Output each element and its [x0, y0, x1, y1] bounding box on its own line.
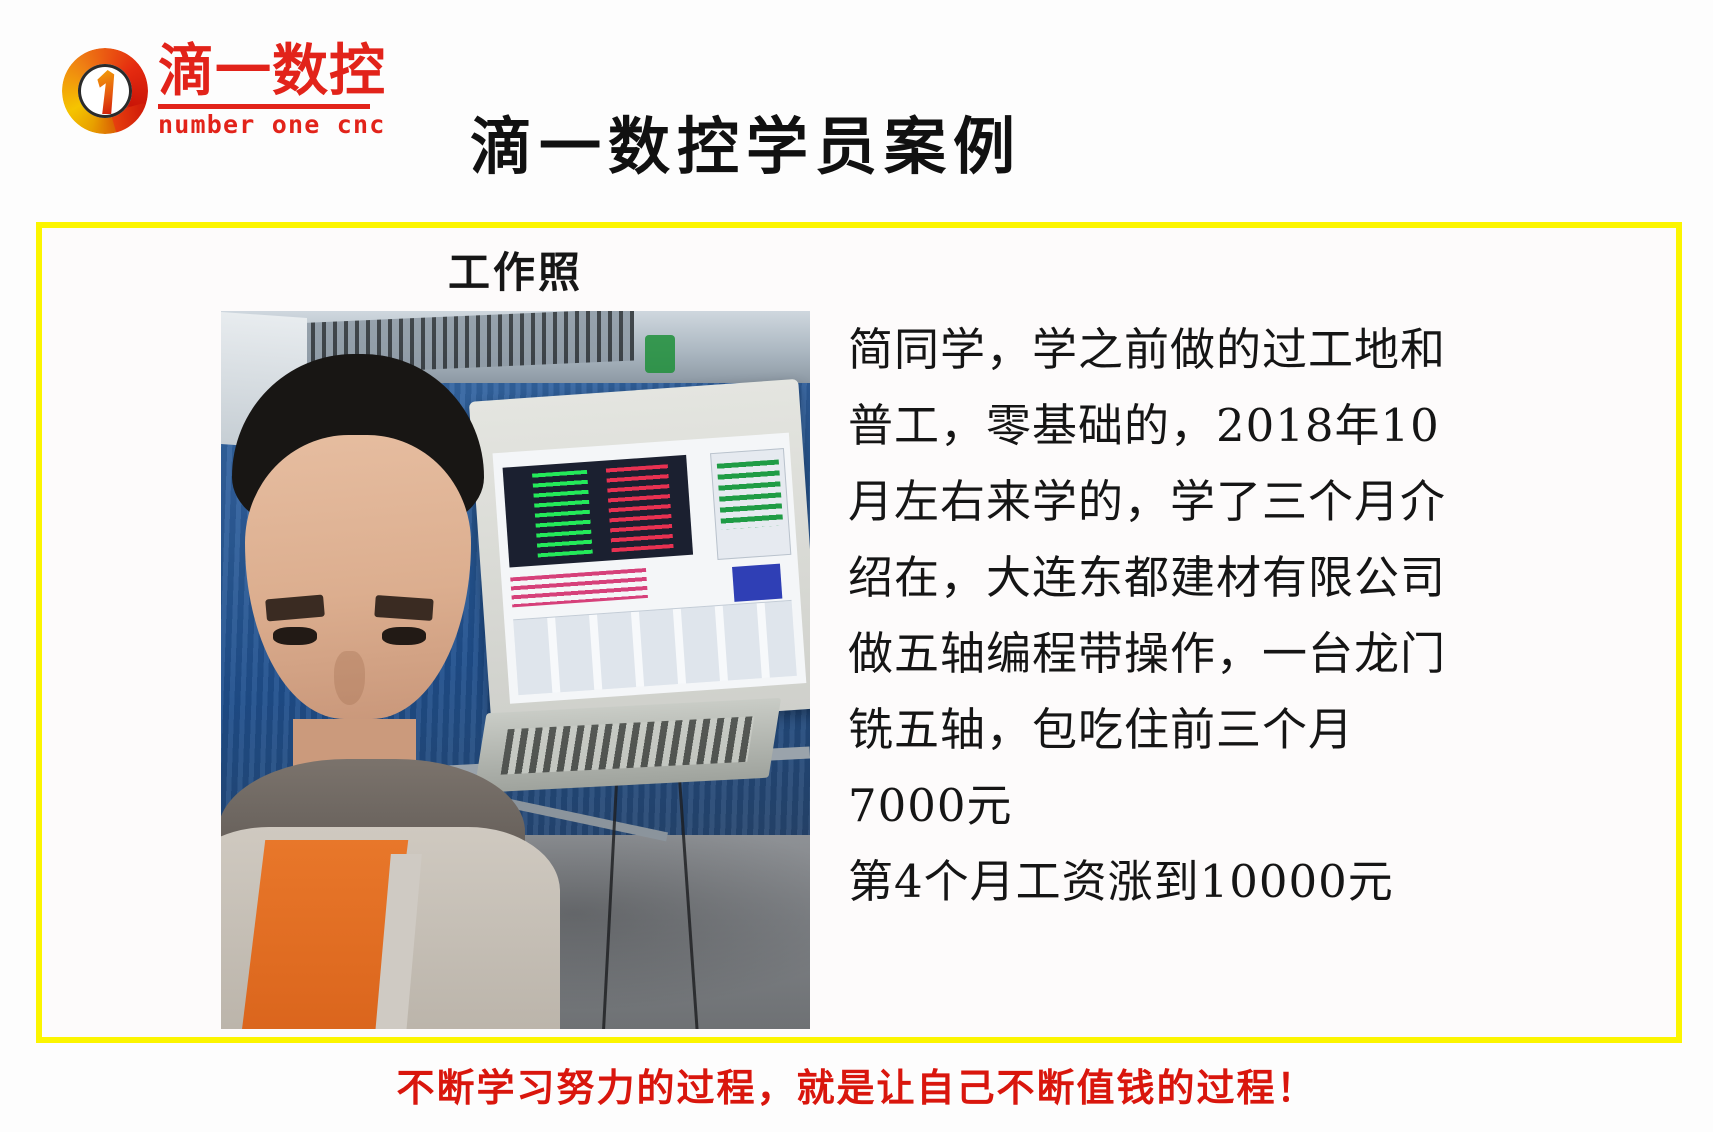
- story-line: 铣五轴，包吃住前三个月: [848, 692, 1668, 768]
- photo-person: [221, 354, 539, 1029]
- number-one-swoosh-logo-icon: [62, 48, 148, 134]
- story-line: 简同学，学之前做的过工地和: [848, 312, 1668, 388]
- story-line: 做五轴编程带操作，一台龙门: [848, 616, 1668, 692]
- cnc-screen: [492, 432, 806, 703]
- logo-divider: [158, 104, 370, 109]
- cnc-status-panel: [711, 448, 792, 560]
- photo-person-eye-right: [382, 627, 426, 645]
- story-line: 绍在，大连东都建材有限公司: [848, 540, 1668, 616]
- logo-chinese-name: 滴一数控: [158, 42, 386, 102]
- brand-logo: 滴一数控 number one cnc: [62, 40, 372, 140]
- student-work-photo: [221, 311, 810, 1029]
- story-line: 第4个月工资涨到10000元: [848, 844, 1668, 920]
- student-story: 简同学，学之前做的过工地和 普工，零基础的，2018年10 月左右来学的，学了三…: [848, 312, 1668, 920]
- photo-person-brow-right: [374, 595, 433, 621]
- cnc-highlight-block: [733, 564, 783, 602]
- photo-person-nose: [334, 651, 365, 705]
- story-line: 普工，零基础的，2018年10: [848, 388, 1668, 464]
- photo-person-eye-left: [273, 627, 317, 645]
- photo-caption: 工作照: [448, 247, 583, 299]
- cnc-button-grid: [513, 600, 797, 696]
- story-line: 7000元: [848, 768, 1668, 844]
- page-title: 滴一数控学员案例: [470, 112, 1022, 182]
- footer-slogan: 不断学习努力的过程，就是让自己不断值钱的过程！: [0, 1062, 1713, 1114]
- logo-english-name: number one cnc: [158, 110, 386, 140]
- photo-green-light: [645, 335, 675, 373]
- story-line: 月左右来学的，学了三个月介: [848, 464, 1668, 540]
